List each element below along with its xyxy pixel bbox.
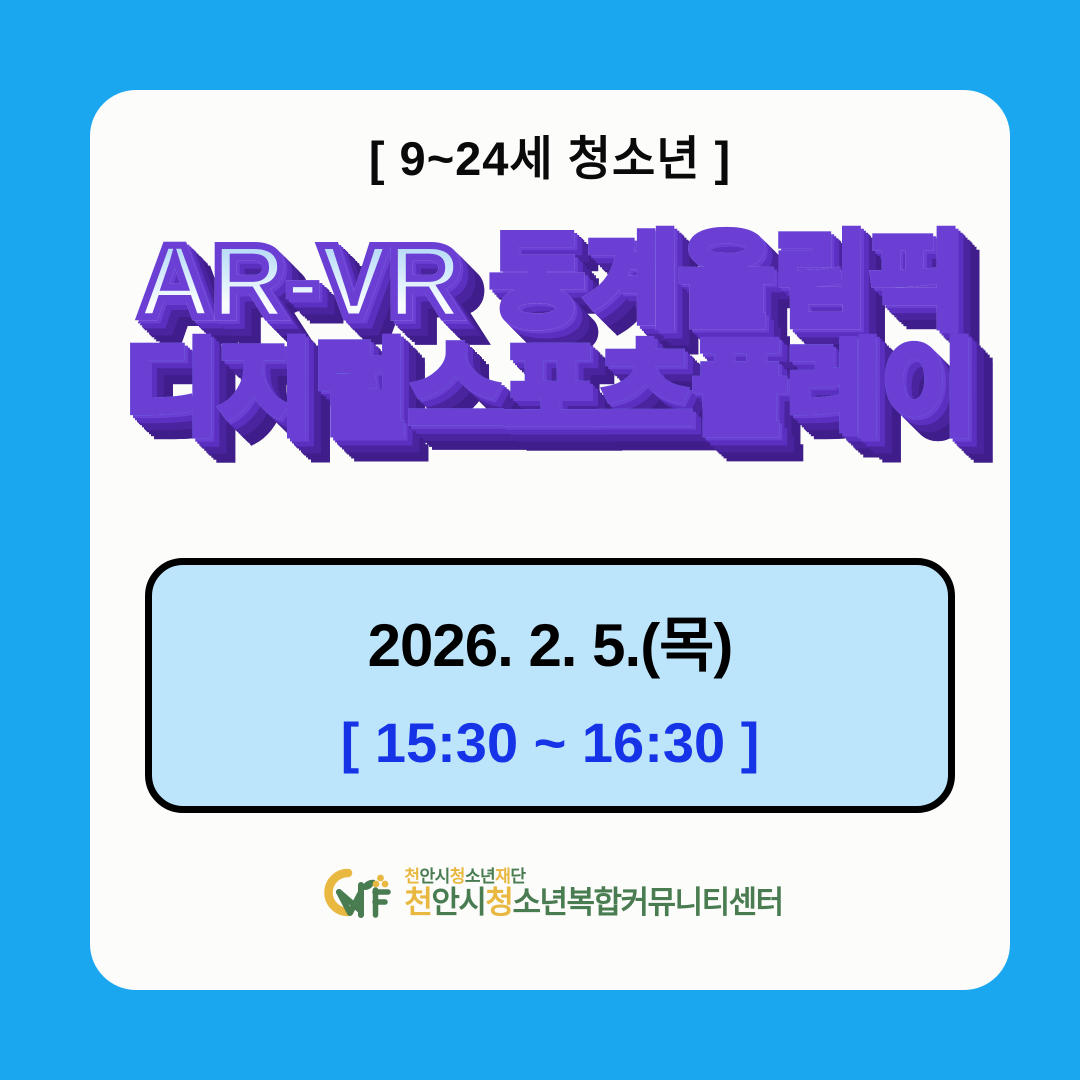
schedule-box: 2026. 2. 5.(목) [ 15:30 ~ 16:30 ] [145, 558, 955, 813]
organization-logo: 천안시청소년재단 천안시청소년복합커뮤니티센터 [90, 865, 1010, 921]
logo-center-name: 천안시청소년복합커뮤니티센터 [404, 887, 782, 918]
logo-foundation-part4: 소년 [465, 867, 495, 886]
logo-foundation-name: 천안시청소년재단 [404, 868, 782, 885]
logo-center-part3: 청 [485, 885, 512, 920]
logo-foundation-part1: 천 [404, 867, 419, 886]
logo-center-part1: 천 [404, 885, 431, 920]
age-range-header: [ 9~24세 청소년 ] [90, 120, 1010, 189]
title-line-secondary: 디지털스포츠플레이 [90, 338, 1010, 442]
event-date: 2026. 2. 5.(목) [368, 597, 733, 684]
sprout-logo-icon [317, 865, 391, 921]
logo-center-part2: 안시 [431, 885, 485, 920]
poster-root: { "theme": { "background_color": "#1AA7F… [0, 0, 1080, 1080]
event-time: [ 15:30 ~ 16:30 ] [341, 710, 760, 775]
poster-title-block: AR-VR 동계올림픽 디지털스포츠플레이 [90, 230, 1010, 442]
title-line-primary: AR-VR 동계올림픽 [90, 230, 1010, 334]
logo-text-stack: 천안시청소년재단 천안시청소년복합커뮤니티센터 [404, 868, 782, 918]
logo-foundation-part3: 청 [450, 867, 465, 886]
logo-center-part4: 소년복합커뮤니티센터 [512, 885, 782, 920]
logo-foundation-part5: 재 [495, 867, 510, 886]
logo-foundation-part6: 단 [510, 867, 525, 886]
poster-card: [ 9~24세 청소년 ] AR-VR 동계올림픽 디지털스포츠플레이 2026… [90, 90, 1010, 990]
logo-foundation-part2: 안시 [419, 867, 449, 886]
